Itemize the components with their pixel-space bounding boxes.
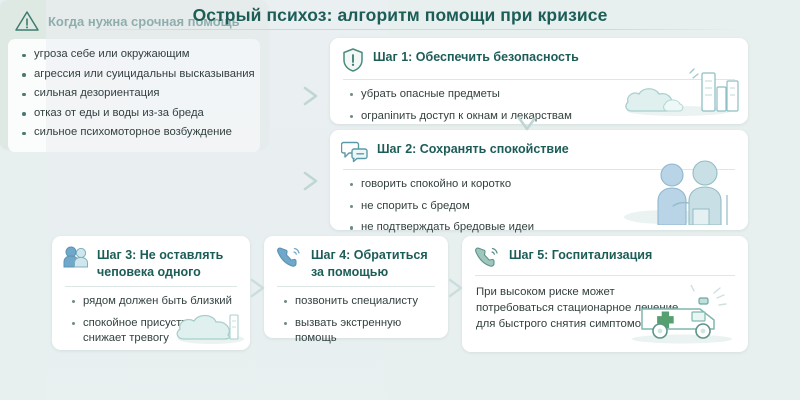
list-item: спокойное присусттвие снижает тревогу (72, 316, 236, 346)
list-item: отказ от еды и воды из-за бреда (22, 107, 250, 119)
list-item: не спорить с бредом (350, 199, 734, 214)
warning-list-box: угроза себе или окружающим агрессия или … (8, 39, 260, 152)
title-divider (55, 29, 745, 30)
list-item: убрать опасные предметы (350, 87, 734, 102)
step5-title: Шаг 5: Госпитализация (509, 245, 652, 264)
list-item: вызвать экстренную помощь (284, 316, 434, 346)
step2-card: Шаг 2: Сохранять спокойствие говорить сп… (330, 130, 748, 230)
shield-exclamation-icon (341, 47, 365, 73)
step5-header: Шаг 5: Госпитализация (462, 236, 748, 269)
list-item: угроза себе или окружающим (22, 48, 250, 60)
step2-list: говорить спокойно и коротко не спорить с… (330, 170, 748, 245)
arrow-warning-to-step2 (299, 168, 325, 194)
page-title-container: Острый психоз: алгоритм помощи при кризи… (0, 0, 800, 30)
step1-header: Шаг 1: Обеспечить безопасность (330, 38, 748, 73)
step3-list: рядом должен быть близкий спокойное прис… (52, 287, 250, 356)
step3-card: Шаг 3: Не оставлять чеповека одного рядо… (52, 236, 250, 350)
step4-card: Шаг 4: Обратиться за помощью позвонить с… (264, 236, 448, 338)
step2-title: Шаг 2: Сохранять спокойствие (377, 139, 569, 158)
step4-list: позвонить специалисту вызвать экстренную… (264, 287, 448, 356)
two-persons-icon (63, 245, 89, 269)
phone-ringing-icon (275, 245, 303, 269)
step5-paragraph: При высоком риске может потребоваться ст… (462, 276, 697, 343)
step4-header: Шаг 4: Обратиться за помощью (264, 236, 448, 280)
arrow-warning-to-step1 (299, 83, 325, 109)
warning-list: угроза себе или окружающим агрессия или … (22, 48, 250, 138)
step1-title: Шаг 1: Обеспечить безопасность (373, 47, 579, 66)
list-item: рядом должен быть близкий (72, 294, 236, 309)
list-item: говорить спокойно и коротко (350, 177, 734, 192)
phone-ringing-teal-icon (473, 245, 501, 269)
list-item: агрессия или суицидальны высказывания (22, 68, 250, 80)
speech-bubbles-icon (341, 139, 369, 163)
step2-header: Шаг 2: Сохранять спокойствие (330, 130, 748, 163)
list-item: ограninить доступ к окнам и лекарствам (350, 109, 734, 124)
list-item: сильное психомоторное возбуждение (22, 126, 250, 138)
step1-card: Шаг 1: Обеспечить безопасность убрать оп… (330, 38, 748, 124)
list-item: не подтверждать бредовые идеи (350, 220, 734, 235)
step1-list: убрать опасные предметы ограninить досту… (330, 80, 748, 134)
list-item: сильная дезориентация (22, 87, 250, 99)
page-title: Острый психоз: алгоритм помощи при кризи… (193, 5, 608, 26)
step4-title: Шаг 4: Обратиться за помощью (311, 245, 436, 280)
list-item: позвонить специалисту (284, 294, 434, 309)
step5-card: Шаг 5: Госпитализация При высоком риске … (462, 236, 748, 352)
step3-title: Шаг 3: Не оставлять чеповека одного (97, 245, 238, 280)
step3-header: Шаг 3: Не оставлять чеповека одного (52, 236, 250, 280)
